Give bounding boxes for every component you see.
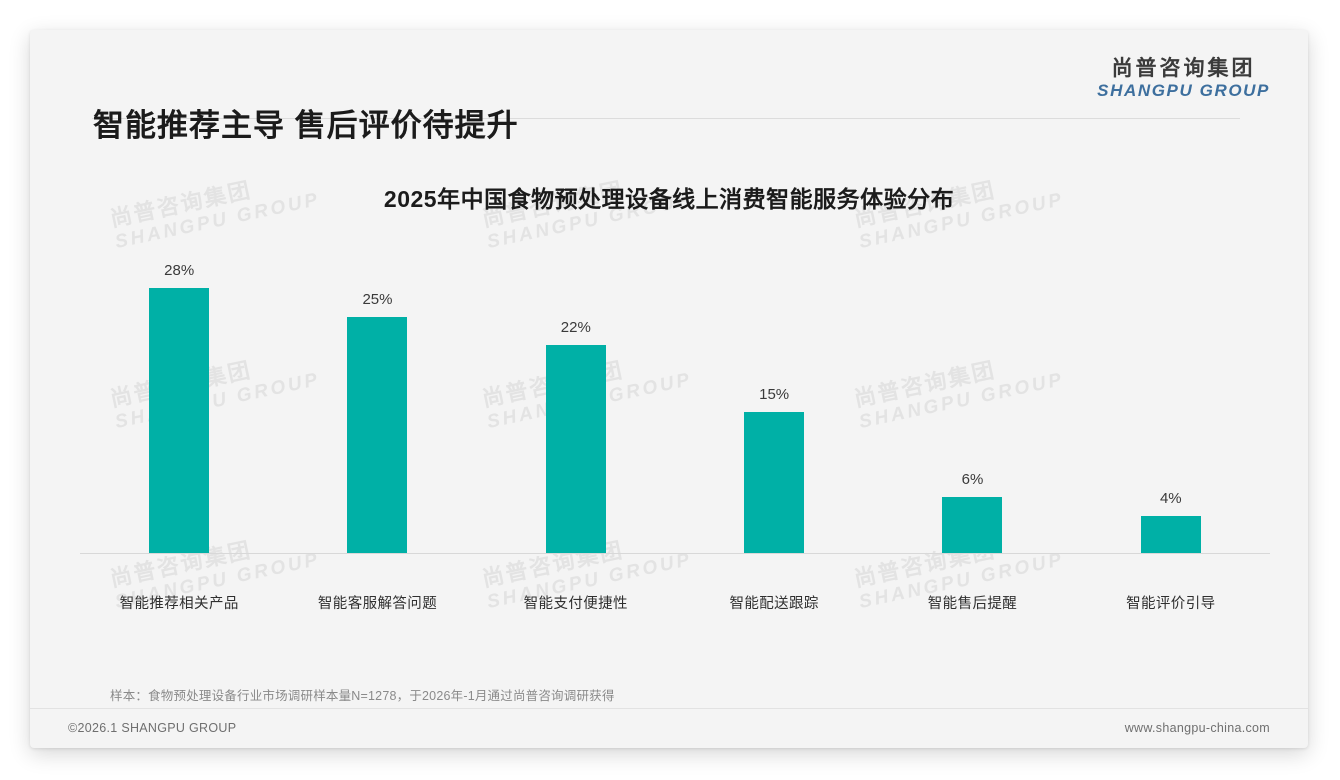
- x-axis-line: [80, 553, 1270, 554]
- slide-card: 尚普咨询集团 SHANGPU GROUP 尚普咨询集团 SHANGPU GROU…: [30, 30, 1308, 748]
- brand-logo: 尚普咨询集团 SHANGPU GROUP: [1097, 57, 1270, 100]
- bar-chart-plot: 28% 25% 22% 15% 6%: [80, 260, 1270, 554]
- brand-name-cn: 尚普咨询集团: [1097, 57, 1270, 81]
- x-axis-tick-label: 智能客服解答问题: [278, 592, 476, 613]
- x-axis-tick-label: 智能推荐相关产品: [80, 592, 278, 613]
- bar-series: 28% 25% 22% 15% 6%: [80, 260, 1270, 554]
- bar-value-label: 6%: [962, 471, 984, 488]
- x-axis-tick-label: 智能售后提醒: [873, 592, 1071, 613]
- bar[interactable]: [1141, 516, 1201, 554]
- bar-value-label: 22%: [561, 319, 591, 336]
- bar-slot: 22%: [477, 260, 675, 554]
- bar-value-label: 4%: [1160, 490, 1182, 507]
- bar[interactable]: [942, 497, 1002, 554]
- bar-value-label: 28%: [164, 262, 194, 279]
- page-title: 智能推荐主导 售后评价待提升: [93, 100, 519, 145]
- bar-slot: 6%: [873, 260, 1071, 554]
- bar-slot: 28%: [80, 260, 278, 554]
- bar-value-label: 25%: [362, 291, 392, 308]
- slide-header: 智能推荐主导 售后评价待提升 尚普咨询集团 SHANGPU GROUP: [30, 30, 1308, 118]
- slide-page: 尚普咨询集团 SHANGPU GROUP 尚普咨询集团 SHANGPU GROU…: [0, 0, 1340, 780]
- x-axis-tick-label: 智能配送跟踪: [675, 592, 873, 613]
- copyright-text: ©2026.1 SHANGPU GROUP: [68, 721, 236, 735]
- bar[interactable]: [546, 345, 606, 554]
- bar[interactable]: [149, 288, 209, 554]
- bar-slot: 15%: [675, 260, 873, 554]
- chart-title: 2025年中国食物预处理设备线上消费智能服务体验分布: [30, 180, 1308, 214]
- website-link[interactable]: www.shangpu-china.com: [1125, 721, 1270, 735]
- bar[interactable]: [744, 412, 804, 554]
- bar[interactable]: [347, 317, 407, 554]
- x-axis-tick-label: 智能评价引导: [1072, 592, 1270, 613]
- brand-name-en: SHANGPU GROUP: [1097, 81, 1270, 100]
- chart-footnote: 样本：食物预处理设备行业市场调研样本量N=1278，于2026年-1月通过尚普咨…: [110, 685, 615, 704]
- bar-slot: 4%: [1072, 260, 1270, 554]
- bar-slot: 25%: [278, 260, 476, 554]
- bar-value-label: 15%: [759, 386, 789, 403]
- slide-footer: ©2026.1 SHANGPU GROUP www.shangpu-china.…: [30, 708, 1308, 748]
- x-axis-tick-label: 智能支付便捷性: [477, 592, 675, 613]
- x-axis-categories: 智能推荐相关产品 智能客服解答问题 智能支付便捷性 智能配送跟踪 智能售后提醒 …: [80, 592, 1270, 613]
